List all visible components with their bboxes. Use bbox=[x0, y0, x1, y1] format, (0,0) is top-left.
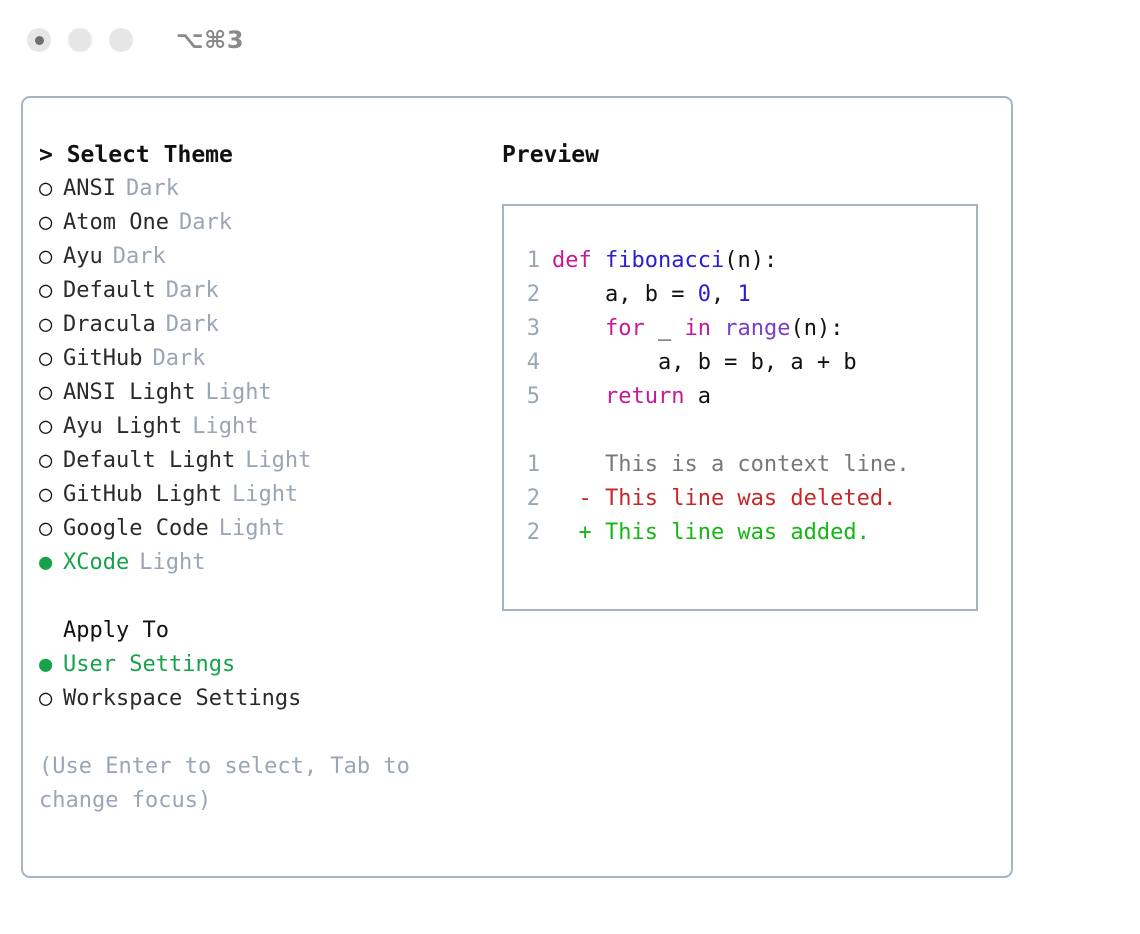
apply-to-option-user-settings[interactable]: ●User Settings bbox=[39, 648, 479, 682]
theme-variant-tag: Dark bbox=[152, 342, 205, 376]
title-bar: ⌥⌘3 bbox=[0, 0, 1140, 80]
code-token bbox=[592, 248, 605, 273]
preview-panel: 1def fibonacci(n):2 a, b = 0, 13 for _ i… bbox=[502, 204, 978, 611]
radio-unselected-icon: ○ bbox=[39, 342, 63, 376]
theme-option-default[interactable]: ○DefaultDark bbox=[39, 274, 479, 308]
apply-to-option-workspace-settings[interactable]: ○Workspace Settings bbox=[39, 682, 479, 716]
apply-to-list: ●User Settings○Workspace Settings bbox=[39, 648, 479, 716]
code-token: 1 bbox=[737, 282, 750, 307]
theme-option-github-light[interactable]: ○GitHub LightLight bbox=[39, 478, 479, 512]
window-controls bbox=[27, 28, 133, 52]
apply-to-heading: Apply To bbox=[39, 614, 479, 648]
code-token bbox=[552, 384, 605, 409]
theme-variant-tag: Dark bbox=[126, 172, 179, 206]
radio-unselected-icon: ○ bbox=[39, 682, 63, 716]
code-token: , bbox=[711, 282, 738, 307]
theme-option-label: Google Code bbox=[63, 512, 209, 546]
code-token: return bbox=[605, 384, 684, 409]
theme-list: ○ANSIDark○Atom OneDark○AyuDark○DefaultDa… bbox=[39, 172, 479, 580]
theme-option-ansi[interactable]: ○ANSIDark bbox=[39, 172, 479, 206]
theme-variant-tag: Light bbox=[205, 376, 271, 410]
window-dot-active-icon[interactable] bbox=[27, 28, 51, 52]
diff-line-add: 2 + This line was added. bbox=[526, 516, 976, 550]
code-line: 1def fibonacci(n): bbox=[526, 244, 976, 278]
code-line-number: 2 bbox=[526, 278, 540, 312]
dialog-frame: > Select Theme ○ANSIDark○Atom OneDark○Ay… bbox=[21, 96, 1013, 878]
code-line-number: 4 bbox=[526, 346, 540, 380]
theme-option-label: GitHub bbox=[63, 342, 142, 376]
radio-unselected-icon: ○ bbox=[39, 172, 63, 206]
window-dot-active-center-icon bbox=[35, 36, 44, 45]
apply-to-option-label: User Settings bbox=[63, 648, 235, 682]
diff-sample: 1 This is a context line.2 - This line w… bbox=[526, 448, 976, 550]
window-dot-second-icon[interactable] bbox=[68, 28, 92, 52]
theme-variant-tag: Light bbox=[139, 546, 205, 580]
keyboard-hint-text: (Use Enter to select, Tab to change focu… bbox=[39, 750, 439, 818]
code-line: 2 a, b = 0, 1 bbox=[526, 278, 976, 312]
theme-option-ansi-light[interactable]: ○ANSI LightLight bbox=[39, 376, 479, 410]
diff-line-text: This is a context line. bbox=[552, 452, 910, 477]
theme-variant-tag: Light bbox=[245, 444, 311, 478]
theme-option-google-code[interactable]: ○Google CodeLight bbox=[39, 512, 479, 546]
code-line: 5 return a bbox=[526, 380, 976, 414]
preview-heading: Preview bbox=[502, 138, 992, 172]
code-line-number: 1 bbox=[526, 244, 540, 278]
radio-unselected-icon: ○ bbox=[39, 376, 63, 410]
radio-selected-icon: ● bbox=[39, 648, 63, 682]
diff-line-number: 1 bbox=[526, 448, 540, 482]
theme-variant-tag: Dark bbox=[113, 240, 166, 274]
code-line: 3 for _ in range(n): bbox=[526, 312, 976, 346]
code-token: (n): bbox=[724, 248, 777, 273]
code-token: a bbox=[684, 384, 711, 409]
theme-variant-tag: Light bbox=[192, 410, 258, 444]
code-token: def bbox=[552, 248, 592, 273]
select-theme-heading: > Select Theme bbox=[39, 138, 479, 172]
theme-option-xcode[interactable]: ●XCodeLight bbox=[39, 546, 479, 580]
radio-unselected-icon: ○ bbox=[39, 206, 63, 240]
code-token bbox=[552, 316, 605, 341]
theme-option-ayu-light[interactable]: ○Ayu LightLight bbox=[39, 410, 479, 444]
theme-option-label: Default bbox=[63, 274, 156, 308]
code-token bbox=[711, 316, 724, 341]
theme-option-label: Atom One bbox=[63, 206, 169, 240]
radio-unselected-icon: ○ bbox=[39, 274, 63, 308]
diff-line-ctx: 1 This is a context line. bbox=[526, 448, 976, 482]
diff-line-text: - This line was deleted. bbox=[552, 486, 896, 511]
theme-option-label: Default Light bbox=[63, 444, 235, 478]
theme-option-label: Ayu bbox=[63, 240, 103, 274]
code-token: a, b = b, a + b bbox=[552, 350, 857, 375]
code-token: a, b = bbox=[552, 282, 698, 307]
theme-option-atom-one[interactable]: ○Atom OneDark bbox=[39, 206, 479, 240]
code-line-number: 5 bbox=[526, 380, 540, 414]
theme-option-label: ANSI bbox=[63, 172, 116, 206]
radio-unselected-icon: ○ bbox=[39, 478, 63, 512]
code-line: 4 a, b = b, a + b bbox=[526, 346, 976, 380]
keyboard-shortcut-label: ⌥⌘3 bbox=[176, 26, 244, 54]
code-token: for bbox=[605, 316, 645, 341]
window-dot-third-icon[interactable] bbox=[109, 28, 133, 52]
theme-option-label: Ayu Light bbox=[63, 410, 182, 444]
preview-column: Preview 1def fibonacci(n):2 a, b = 0, 13… bbox=[502, 138, 992, 611]
theme-option-dracula[interactable]: ○DraculaDark bbox=[39, 308, 479, 342]
theme-option-default-light[interactable]: ○Default LightLight bbox=[39, 444, 479, 478]
theme-option-label: Dracula bbox=[63, 308, 156, 342]
code-token: in bbox=[684, 316, 711, 341]
code-line-number: 3 bbox=[526, 312, 540, 346]
apply-to-option-label: Workspace Settings bbox=[63, 682, 301, 716]
theme-variant-tag: Dark bbox=[166, 308, 219, 342]
theme-option-label: ANSI Light bbox=[63, 376, 195, 410]
radio-unselected-icon: ○ bbox=[39, 240, 63, 274]
code-token: _ bbox=[645, 316, 685, 341]
theme-variant-tag: Light bbox=[232, 478, 298, 512]
diff-line-number: 2 bbox=[526, 482, 540, 516]
diff-line-number: 2 bbox=[526, 516, 540, 550]
theme-option-github[interactable]: ○GitHubDark bbox=[39, 342, 479, 376]
radio-selected-icon: ● bbox=[39, 546, 63, 580]
theme-option-ayu[interactable]: ○AyuDark bbox=[39, 240, 479, 274]
preview-spacer bbox=[526, 414, 976, 448]
radio-unselected-icon: ○ bbox=[39, 444, 63, 478]
code-token: range bbox=[724, 316, 790, 341]
radio-unselected-icon: ○ bbox=[39, 410, 63, 444]
radio-unselected-icon: ○ bbox=[39, 308, 63, 342]
theme-option-label: GitHub Light bbox=[63, 478, 222, 512]
code-token: fibonacci bbox=[605, 248, 724, 273]
theme-variant-tag: Light bbox=[219, 512, 285, 546]
theme-variant-tag: Dark bbox=[179, 206, 232, 240]
code-token: (n): bbox=[790, 316, 843, 341]
code-token: 0 bbox=[698, 282, 711, 307]
radio-unselected-icon: ○ bbox=[39, 512, 63, 546]
diff-line-text: + This line was added. bbox=[552, 520, 870, 545]
theme-variant-tag: Dark bbox=[166, 274, 219, 308]
diff-line-del: 2 - This line was deleted. bbox=[526, 482, 976, 516]
theme-option-label: XCode bbox=[63, 546, 129, 580]
code-sample: 1def fibonacci(n):2 a, b = 0, 13 for _ i… bbox=[526, 244, 976, 414]
theme-selector-column: > Select Theme ○ANSIDark○Atom OneDark○Ay… bbox=[39, 138, 479, 818]
